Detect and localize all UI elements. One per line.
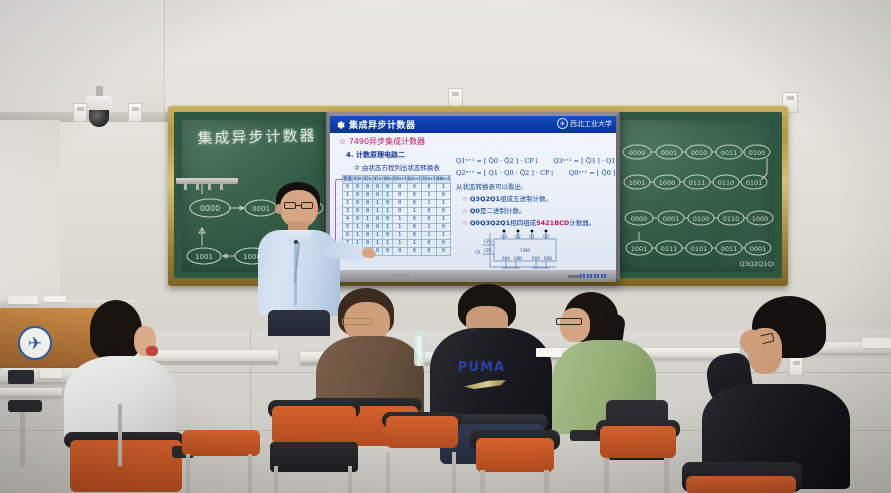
table-cell: 0 (407, 248, 422, 256)
table-cell: 0 (393, 200, 408, 208)
table-cell: 1 (393, 224, 408, 232)
svg-text:0011: 0011 (721, 245, 738, 253)
table-cell: 0 (422, 184, 437, 192)
table-cell: 1 (436, 184, 451, 192)
table-cell: 1 (373, 200, 383, 208)
table-cell: 0 (373, 192, 383, 200)
table-header-cell: Q1n (373, 176, 383, 184)
tablet-device[interactable] (8, 370, 34, 384)
table-cell: 1 (407, 240, 422, 248)
conclusion-item: ☆ Q3Q2Q1组成五进制计数。 (462, 193, 616, 203)
table-cell: 0 (393, 208, 408, 216)
equation: Q3ⁿ⁺¹ = [ Q̄3 ] · Q1 ↓ (553, 157, 616, 165)
svg-text:S9A: S9A (502, 256, 510, 261)
table-cell: 0 (373, 216, 383, 224)
svg-text:Q2: Q2 (515, 234, 521, 239)
slide-subtitle: ☆ 7490异步集成计数器 (339, 136, 612, 147)
svg-text:Q3: Q3 (501, 234, 507, 239)
svg-text:CP2: CP2 (484, 239, 492, 244)
conclusion-text: 组成五进制计数。 (500, 195, 552, 203)
university-name: 西北工业大学 (570, 119, 612, 129)
table-cell: 1 (383, 240, 393, 248)
slide-header: 集成异步计数器 ✈ 西北工业大学 (330, 116, 616, 133)
wall-plate (73, 103, 87, 122)
table-cell: 1 (436, 216, 451, 224)
svg-text:0010: 0010 (691, 149, 708, 157)
glasses-icon (342, 318, 372, 325)
table-cell: 0 (436, 224, 451, 232)
chip-label: 7490 (520, 248, 531, 253)
svg-text:0011: 0011 (721, 149, 738, 157)
svg-text:0000: 0000 (631, 215, 648, 223)
conclusion-item: ☆ Q0Q3Q2Q1相四组成5421BCD计数器。 (462, 217, 616, 227)
table-cell: 0 (422, 248, 437, 256)
table-cell: 1 (436, 232, 451, 240)
table-cell: 0 (393, 184, 408, 192)
table-cell: 0 (363, 208, 373, 216)
svg-text:0110: 0110 (718, 179, 735, 187)
wall-plate (128, 103, 142, 122)
table-header-cell: Q1n+1 (422, 176, 437, 184)
svg-text:S9B: S9B (514, 256, 522, 261)
paper (536, 348, 562, 357)
emblem-glyph-icon: ✈ (28, 335, 42, 352)
svg-text:1000: 1000 (659, 179, 676, 187)
svg-text:R0B: R0B (544, 256, 552, 261)
table-cell: 0 (363, 224, 373, 232)
svg-text:0101: 0101 (746, 179, 763, 187)
table-cell: 0 (407, 200, 422, 208)
svg-text:0000: 0000 (629, 149, 646, 157)
table-cell: 1 (373, 240, 383, 248)
student-face (560, 308, 590, 342)
table-cell: 0 (393, 192, 408, 200)
table-cell: 1 (407, 208, 422, 216)
table-cell: 1 (422, 192, 437, 200)
equation: Q0ⁿ⁺¹ = [ Q̄0 ] · Q0 ↓ (569, 169, 616, 177)
table-cell: 0 (393, 248, 408, 256)
table-cell: 0 (407, 184, 422, 192)
table-cell: 1 (422, 200, 437, 208)
table-cell: 1 (383, 192, 393, 200)
instructor-ear (275, 204, 282, 214)
star-icon: ☆ (462, 195, 468, 203)
chalk-tray (176, 178, 238, 184)
table-cell: 0 (363, 200, 373, 208)
table-header-cell: Q0n (383, 176, 393, 184)
svg-text:0001: 0001 (750, 245, 767, 253)
conclusion-tail: 计数器。 (569, 219, 595, 227)
slide-subtitle-text: 7490异步集成计数器 (349, 137, 425, 146)
svg-text:0000: 0000 (200, 204, 220, 213)
table-cell: 1 (422, 224, 437, 232)
table-cell: 1 (373, 208, 383, 216)
display-brand-logo (392, 274, 410, 278)
svg-text:1001: 1001 (195, 253, 213, 261)
svg-text:Q1: Q1 (529, 234, 535, 239)
glasses-icon (556, 318, 582, 325)
gear-icon (335, 120, 345, 130)
table-cell: 0 (373, 224, 383, 232)
slide-title: 集成异步计数器 (349, 118, 416, 131)
table-cell: 0 (407, 216, 422, 224)
conclusion-text: 相四组成 (510, 219, 536, 227)
table-cell: 0 (383, 248, 393, 256)
svg-text:0111: 0111 (689, 179, 706, 187)
table-cell: 1 (363, 216, 373, 224)
conclusion-lead: 从状态转换表可以看出: (456, 181, 616, 191)
table-cell: 1 (383, 208, 393, 216)
university-logo: ✈ 西北工业大学 (557, 118, 612, 129)
conclusion-signal: Q3Q2Q1 (470, 195, 500, 203)
svg-text:0001: 0001 (663, 215, 680, 223)
table-header-cell: Q2n (363, 176, 373, 184)
conclusion-text: 是二进制计数。 (480, 207, 526, 215)
student-black-tee (700, 296, 850, 493)
svg-text:0001: 0001 (661, 149, 678, 157)
table-cell: 0 (373, 184, 383, 192)
paper (8, 296, 38, 304)
table-cell: 0 (436, 208, 451, 216)
table-header-cell: Q0n+1 (436, 176, 451, 184)
equation-row: Q2ⁿ⁺¹ = [ Q1 · Q0 · Q̄2 ] · CP↓ Q0ⁿ⁺¹ = … (456, 169, 616, 177)
table-cell: 1 (383, 224, 393, 232)
svg-text:0111: 0111 (661, 245, 678, 253)
glasses-icon (284, 202, 314, 209)
svg-text:R0A: R0A (532, 256, 540, 261)
equation: Q2ⁿ⁺¹ = [ Q1 · Q0 · Q̄2 ] · CP↓ (456, 169, 555, 177)
circuit-diagram-7490: 7490 Q3Q2 Q1Q0 CP2CP1 CP (472, 229, 592, 270)
table-cell: 1 (393, 216, 408, 224)
svg-text:CP: CP (475, 250, 481, 255)
equation-row: Q1ⁿ⁺¹ = [ Q̄0 · Q̄2 ] · CP↓ Q3ⁿ⁺¹ = [ Q̄… (456, 157, 616, 165)
table-cell: 0 (383, 232, 393, 240)
table-cell: 1 (422, 232, 437, 240)
table-cell: 0 (422, 216, 437, 224)
blackboard-right: 0000 0001 0010 0011 0100 1001 1000 0111 … (619, 120, 774, 272)
svg-text:0100: 0100 (693, 215, 710, 223)
student-collar-accent (146, 346, 158, 356)
ceiling-soffit (0, 0, 165, 120)
svg-text:Q0: Q0 (543, 234, 549, 239)
table-cell: 0 (383, 184, 393, 192)
svg-text:0100: 0100 (749, 149, 766, 157)
paper (862, 338, 891, 348)
table-cell: 0 (363, 192, 373, 200)
table-header-cell: Q3n+1 (393, 176, 408, 184)
svg-text:1000: 1000 (752, 215, 769, 223)
display-buttons[interactable] (580, 274, 607, 278)
star-icon: ☆ (462, 207, 468, 215)
conclusion-signal: Q0Q3Q2Q1 (470, 219, 510, 227)
conclusion-highlight: 5421BCD (536, 219, 569, 227)
table-cell: 0 (407, 192, 422, 200)
table-cell: 1 (393, 240, 408, 248)
table-cell: 1 (373, 232, 383, 240)
display-chin (330, 270, 616, 282)
svg-text:CP1: CP1 (484, 248, 492, 253)
svg-text:0101: 0101 (691, 245, 708, 253)
star-icon: ☆ (339, 137, 346, 146)
water-bottle (414, 336, 425, 366)
svg-text:1001: 1001 (631, 245, 648, 253)
conclusion-signal: Q0 (470, 207, 480, 215)
microphone-icon (294, 240, 298, 244)
table-cell: 0 (436, 192, 451, 200)
svg-text:0110: 0110 (723, 215, 740, 223)
table-cell: 0 (407, 232, 422, 240)
table-cell: 0 (363, 184, 373, 192)
table-cell: 0 (436, 240, 451, 248)
table-cell: 1 (436, 200, 451, 208)
table-cell: 0 (407, 224, 422, 232)
equation: Q1ⁿ⁺¹ = [ Q̄0 · Q̄2 ] · CP↓ (456, 157, 539, 165)
slide-screen[interactable]: 集成异步计数器 ✈ 西北工业大学 ☆ 7490异步集成计数器 4. 计数原理电路… (330, 116, 616, 270)
state-equations: Q1ⁿ⁺¹ = [ Q̄0 · Q̄2 ] · CP↓ Q3ⁿ⁺¹ = [ Q̄… (456, 157, 616, 227)
svg-text:Q3Q2Q1Q0: Q3Q2Q1Q0 (739, 260, 774, 268)
table-cell: 0 (422, 208, 437, 216)
ir-sensor (568, 275, 580, 278)
classroom-scene: 集成异步计数器 0000 0001 0010 1001 (0, 0, 891, 493)
svg-text:1001: 1001 (629, 179, 646, 187)
table-header-cell: Q2n+1 (407, 176, 422, 184)
table-cell: 0 (436, 248, 451, 256)
student-front-left (42, 300, 182, 493)
state-diagram-right: 0000 0001 0010 0011 0100 1001 1000 0111 … (619, 120, 774, 286)
table-cell: 0 (363, 232, 373, 240)
table-cell: 0 (383, 200, 393, 208)
table-cell: 0 (422, 240, 437, 248)
tee-brand-text: PUMA (458, 360, 505, 375)
conclusion-item: ☆ Q0是二进制计数。 (462, 205, 616, 215)
table-cell: 0 (383, 216, 393, 224)
table-cell: 1 (393, 232, 408, 240)
star-icon: ☆ (462, 219, 468, 227)
university-crest-icon: ✈ (557, 118, 568, 129)
